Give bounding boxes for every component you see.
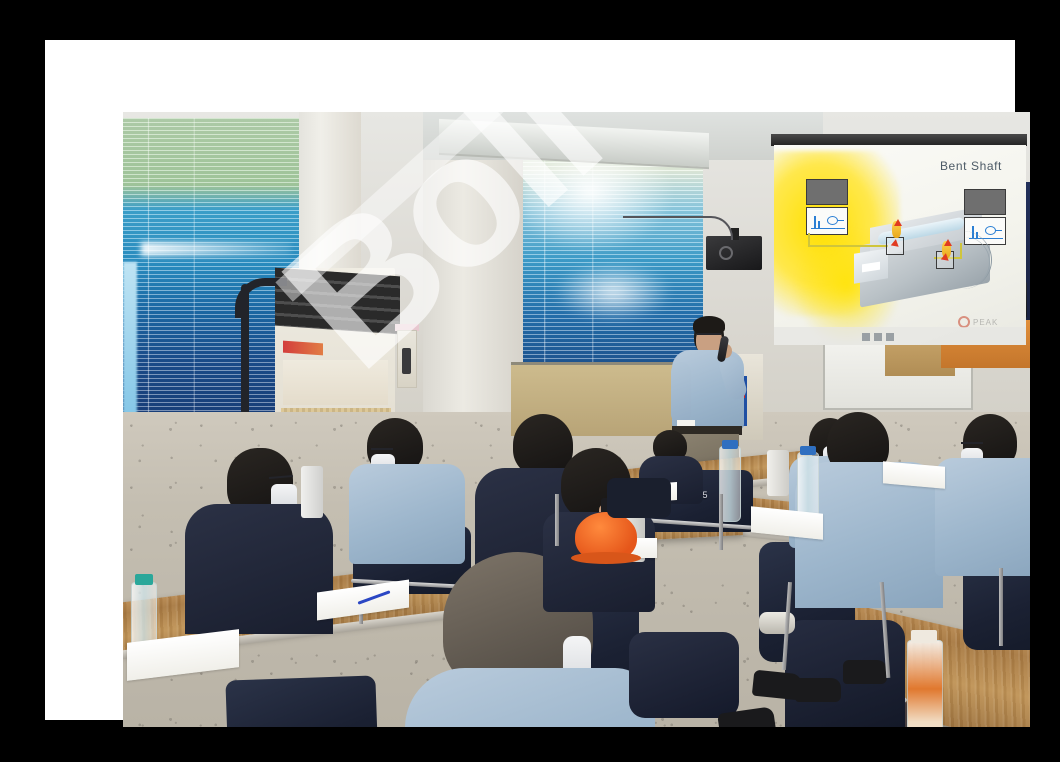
- window-glare: [553, 262, 673, 322]
- slide-plot-box-left: [806, 207, 848, 235]
- slide-photo-box-right: [964, 189, 1006, 215]
- chair-leg-rear: [555, 494, 559, 546]
- tea-bottle-front-right: [907, 640, 943, 727]
- attendee-torso-left-rear: [185, 504, 333, 634]
- bottle-cap-center: [722, 440, 738, 449]
- safety-helmet-brim: [571, 552, 641, 564]
- photograph: Bent Shaft: [123, 112, 1030, 727]
- slide-background: Bent Shaft: [774, 145, 1026, 345]
- taskbar-icon: [886, 333, 894, 341]
- attendee-glasses-icon: [961, 442, 983, 446]
- shoe-attendee-right-1: [795, 678, 841, 702]
- chair-leg-front: [999, 568, 1003, 646]
- presenter-glasses-icon: [697, 333, 721, 337]
- bag-under-table: [629, 632, 739, 718]
- speaker-cable: [623, 216, 733, 240]
- tumbler-podium: [767, 450, 789, 496]
- thermos-left: [301, 466, 323, 518]
- wall-phone-handset: [402, 348, 411, 374]
- bag-rear: [607, 478, 671, 518]
- bottle-cap-mid-right: [800, 446, 816, 455]
- slide-sensor-wire-left-2: [808, 245, 888, 247]
- slide-force-arrow-left: [894, 219, 902, 226]
- photo-frame-matte: Bent Shaft: [45, 40, 1015, 720]
- slide-orbit-tail: [837, 220, 844, 221]
- shoe-attendee-right-2: [843, 660, 887, 684]
- chair-leg-rear: [719, 494, 723, 550]
- slide-plot-peak: [814, 216, 816, 228]
- attendee-torso-foreground: [405, 668, 655, 727]
- slide-taskbar: [774, 327, 1026, 345]
- attendee-torso-left-2: [349, 464, 465, 564]
- taskbar-icon: [862, 333, 870, 341]
- presenter-hair: [693, 316, 725, 334]
- tea-bottle-cap: [911, 630, 937, 643]
- taskbar-icon: [874, 333, 882, 341]
- projection-screen: Bent Shaft: [774, 145, 1026, 345]
- slide-photo-box-left: [806, 179, 848, 205]
- slide-title: Bent Shaft: [940, 159, 1002, 173]
- window-left-blinds: [123, 118, 299, 423]
- window-glare: [141, 242, 291, 256]
- slide-logo-text: PEAK: [973, 318, 998, 327]
- slide-orbit-tail: [995, 230, 1002, 231]
- air-conditioner-panel: [283, 360, 388, 405]
- bottle-cap-left: [135, 574, 153, 585]
- photo-frame-outer: Bent Shaft: [0, 0, 1060, 762]
- slide-plot-peak: [818, 221, 820, 228]
- blind-cords: [123, 118, 299, 423]
- attendee-torso-right-3: [935, 458, 1030, 576]
- chair-a31: [225, 675, 378, 727]
- chair-label-a31: A 3 1: [297, 726, 342, 727]
- ceiling-speaker-icon: [706, 236, 762, 270]
- speaker-cone-icon: [719, 246, 733, 260]
- slide-plot-baseline: [811, 228, 845, 230]
- presenter-arm-left: [671, 362, 691, 424]
- window-left-edge: [123, 262, 137, 432]
- attendee-glasses-icon: [371, 448, 393, 452]
